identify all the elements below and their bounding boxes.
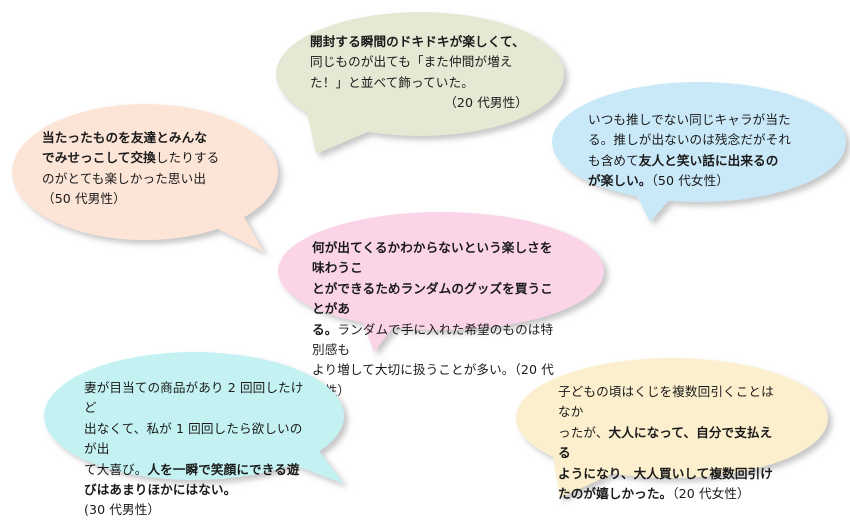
bubble-text-line: ったが、大人になって、自分で支払える — [558, 423, 782, 464]
text-run-bold: 友人と笑い話に出来るの — [639, 153, 779, 168]
speech-bubble-blue: いつも推しでない同じキャラが当たる。推しが出ないのは残念だがそれも含めて友人と笑… — [552, 82, 846, 220]
speech-bubble-peach: 当たったものを友達とみんなでみせっこして交換したりするのがとても楽しかった思い出… — [12, 104, 292, 259]
bubble-text-line: も含めて友人と笑い話に出来るの — [588, 151, 804, 171]
text-run-bold: る。 — [312, 322, 337, 337]
bubble-text-line: る。推しが出ないのは残念だがそれ — [588, 130, 804, 150]
text-run-regular: て大喜び。 — [84, 462, 147, 477]
bubble-text-line: ようになり、大人買いして複数回引け — [558, 464, 782, 484]
speech-bubble-green: 開封する瞬間のドキドキが楽しくて、同じものが出ても「また仲間が増えた！」と並べて… — [276, 12, 566, 164]
text-run-bold: 当たったものを友達とみんな — [42, 130, 207, 145]
text-run-regular: る。推しが出ないのは残念だがそれ — [588, 132, 791, 147]
text-run-regular: ったが、 — [558, 425, 609, 440]
blue-bubble-text: いつも推しでない同じキャラが当たる。推しが出ないのは残念だがそれも含めて友人と笑… — [588, 110, 804, 192]
bubble-text-line: た！」と並べて飾っていた。 — [310, 73, 528, 93]
text-run-bold: 開封する瞬間のドキドキが楽しくて、 — [310, 34, 525, 49]
cyan-bubble-text: 妻が目当ての商品があり 2 回回したけど出なくて、私が 1 回回したら欲しいのが… — [84, 378, 312, 521]
text-run-regular: た！」と並べて飾っていた。 — [310, 75, 474, 90]
bubble-text-line: 出なくて、私が 1 回回したら欲しいのが出 — [84, 419, 312, 460]
bubble-text-line: 妻が目当ての商品があり 2 回回したけど — [84, 378, 312, 419]
bubble-text-line: （20 代男性） — [310, 93, 528, 113]
text-run-regular: 出なくて、私が 1 回回したら欲しいのが出 — [84, 421, 302, 456]
speech-bubble-cyan: 妻が目当ての商品があり 2 回回したけど出なくて、私が 1 回回したら欲しいのが… — [44, 352, 354, 502]
text-run-regular: （20 代女性） — [672, 486, 750, 501]
text-run-regular: も含めて — [588, 153, 639, 168]
speech-bubble-beige: 子どもの頃はくじを複数回引くことはなかったが、大人になって、自分で支払えるように… — [516, 358, 828, 506]
bubble-text-line: のがとても楽しかった思い出 — [42, 169, 258, 189]
text-run-bold: 何が出てくるかわからないという楽しさを味わうこ — [312, 240, 553, 275]
text-run-bold: でみせっこして交換 — [42, 150, 156, 165]
bubble-text-line: 当たったものを友達とみんな — [42, 128, 258, 148]
text-run-bold: 人を一瞬で笑顔にできる遊 — [147, 462, 299, 477]
text-run-regular: （20 代男性） — [444, 95, 528, 110]
text-run-regular: （50 代男性） — [42, 191, 126, 206]
speech-bubble-pink: 何が出てくるかわからないという楽しさを味わうことができるためランダムのグッズを買… — [278, 212, 604, 348]
green-bubble-text: 開封する瞬間のドキドキが楽しくて、同じものが出ても「また仲間が増えた！」と並べて… — [310, 32, 528, 114]
bubble-text-line: が楽しい。（50 代女性） — [588, 171, 804, 191]
bubble-text-line: 何が出てくるかわからないという楽しさを味わうこ — [312, 238, 560, 279]
bubble-text-line: 開封する瞬間のドキドキが楽しくて、 — [310, 32, 528, 52]
text-run-regular: いつも推しでない同じキャラが当た — [588, 112, 791, 127]
peach-bubble-text: 当たったものを友達とみんなでみせっこして交換したりするのがとても楽しかった思い出… — [42, 128, 258, 210]
speech-bubble-collage: 当たったものを友達とみんなでみせっこして交換したりするのがとても楽しかった思い出… — [0, 0, 850, 525]
bubble-text-line: びはあまりほかにはない。(30 代男性） — [84, 480, 312, 521]
text-run-bold: とができるためランダムのグッズを買うことがあ — [312, 281, 553, 316]
text-run-regular: 同じものが出ても「また仲間が増え — [310, 54, 512, 69]
text-run-bold: が楽しい。 — [588, 173, 651, 188]
text-run-bold: ようになり、大人買いして複数回引け — [558, 466, 773, 481]
bubble-text-line: でみせっこして交換したりする — [42, 148, 258, 168]
text-run-bold: たのが嬉しかった。 — [558, 486, 672, 501]
text-run-regular: のがとても楽しかった思い出 — [42, 171, 206, 186]
bubble-text-line: （50 代男性） — [42, 189, 258, 209]
text-run-regular: したりする — [156, 150, 219, 165]
text-run-regular: 妻が目当ての商品があり 2 回回したけど — [84, 380, 303, 415]
text-run-regular: (30 代男性） — [84, 502, 160, 517]
bubble-text-line: て大喜び。人を一瞬で笑顔にできる遊 — [84, 460, 312, 480]
text-run-regular: 子どもの頃はくじを複数回引くことはなか — [558, 384, 774, 419]
bubble-text-line: いつも推しでない同じキャラが当た — [588, 110, 804, 130]
text-run-bold: びはあまりほかにはない。 — [84, 482, 236, 497]
bubble-text-line: とができるためランダムのグッズを買うことがあ — [312, 279, 560, 320]
bubble-text-line: 同じものが出ても「また仲間が増え — [310, 52, 528, 72]
beige-bubble-text: 子どもの頃はくじを複数回引くことはなかったが、大人になって、自分で支払えるように… — [558, 382, 782, 504]
text-run-regular: （50 代女性） — [651, 173, 729, 188]
bubble-text-line: 子どもの頃はくじを複数回引くことはなか — [558, 382, 782, 423]
bubble-text-line: たのが嬉しかった。（20 代女性） — [558, 484, 782, 504]
